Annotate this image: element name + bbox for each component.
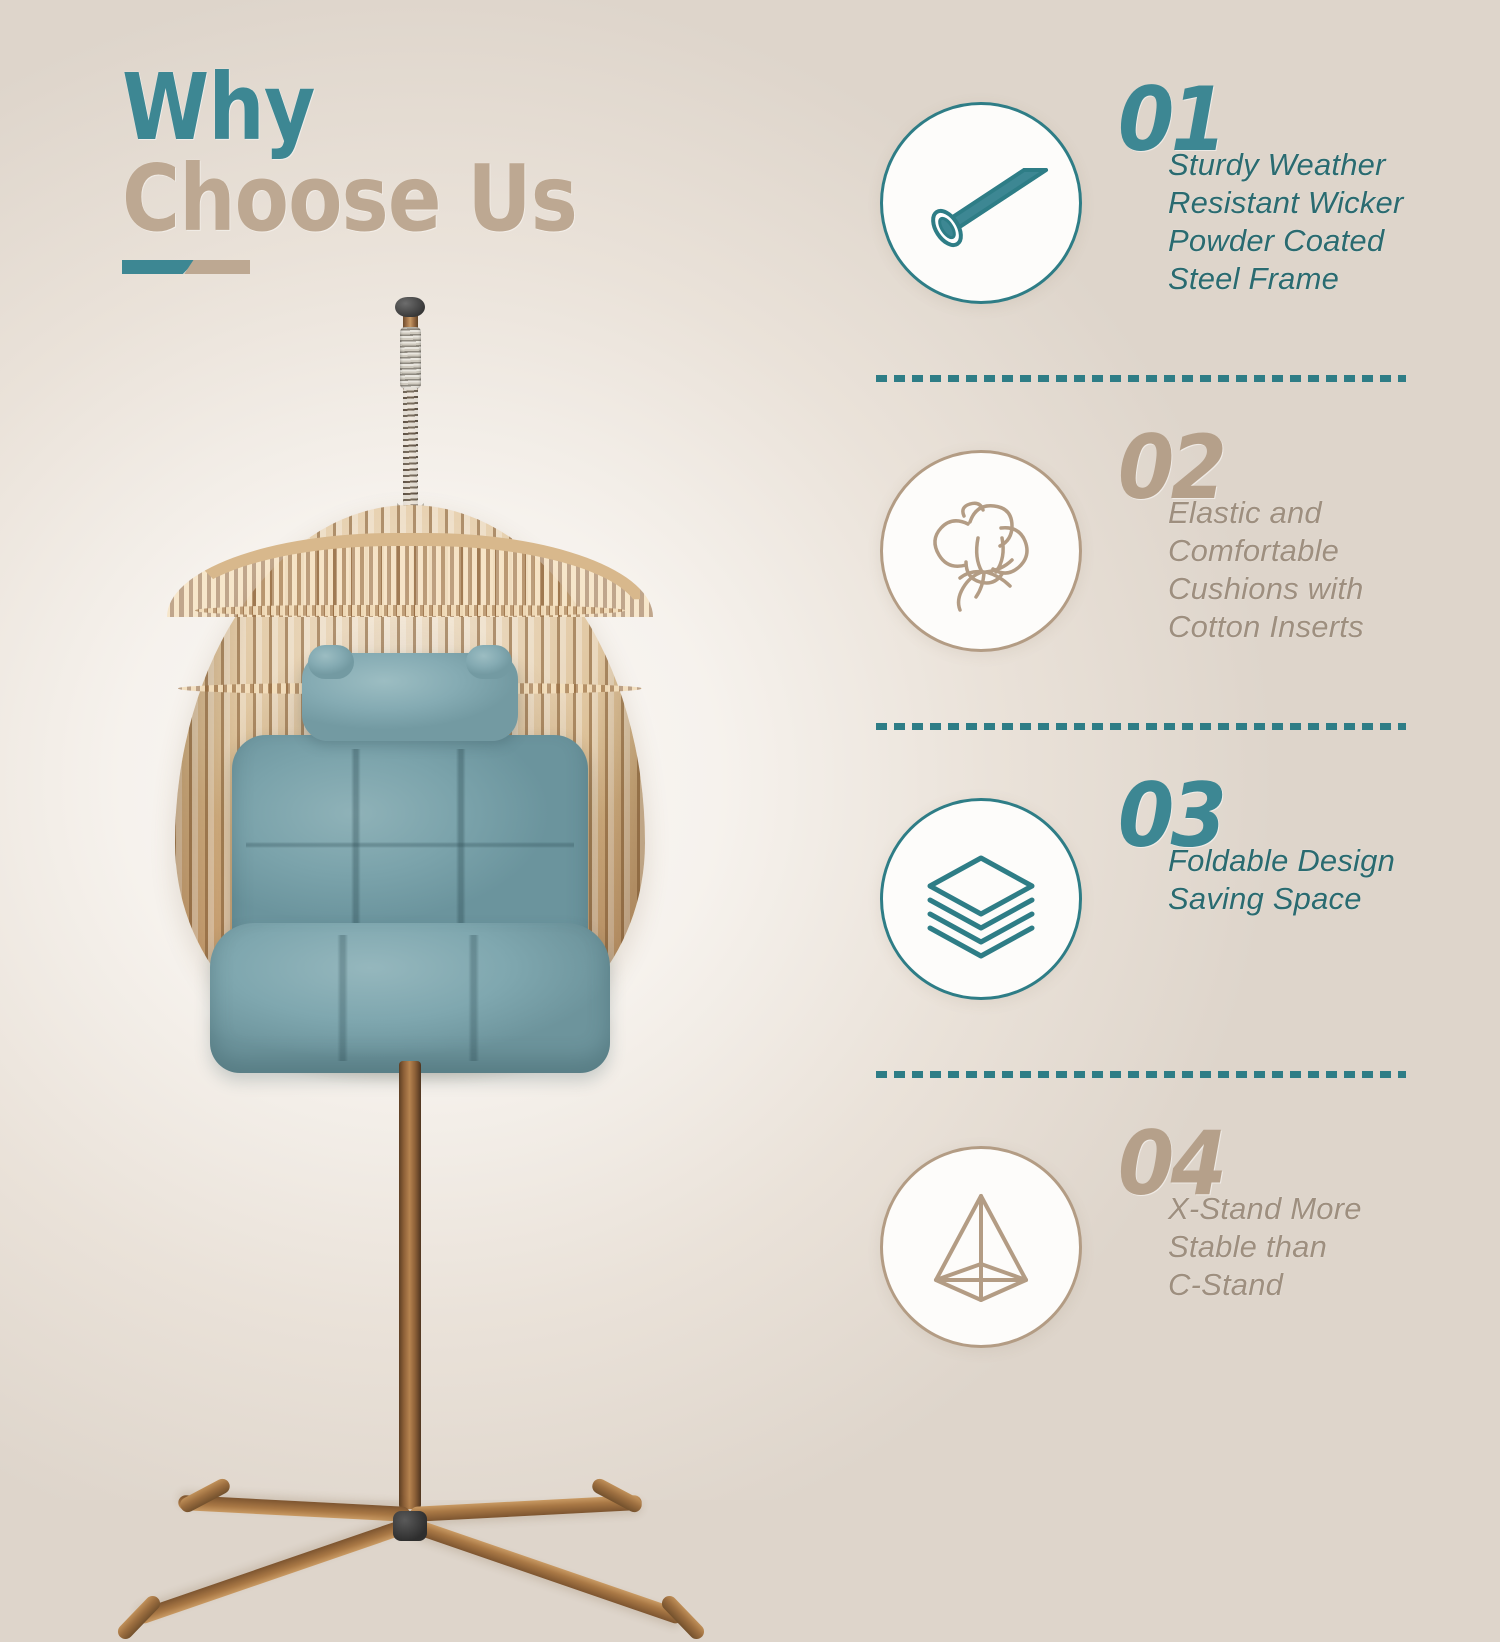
basket-band-upper bbox=[195, 605, 625, 616]
feature-item-01: 01 Sturdy Weather Resistant Wicker Powde… bbox=[862, 62, 1422, 410]
feature-text-line: Saving Space bbox=[1168, 880, 1420, 918]
feature-icon-badge-03 bbox=[880, 798, 1082, 1000]
feature-divider-1 bbox=[876, 375, 1406, 382]
feature-text-03: Foldable Design Saving Space bbox=[1168, 842, 1420, 918]
post-cap-icon bbox=[395, 297, 425, 317]
heading-line-choose-us: Choose Us bbox=[122, 157, 655, 242]
feature-divider-3 bbox=[876, 1071, 1406, 1078]
feature-icon-badge-02 bbox=[880, 450, 1082, 652]
feature-text-line: Cushions with bbox=[1168, 570, 1420, 608]
pyramid-stand-icon bbox=[906, 1172, 1056, 1322]
feature-text-line: Comfortable bbox=[1168, 532, 1420, 570]
stand-lower-column bbox=[399, 1061, 421, 1509]
feature-item-04: 04 X-Stand More Stable than C-Stand bbox=[862, 1106, 1422, 1454]
feature-text-line: Powder Coated bbox=[1168, 222, 1420, 260]
stand-leg-front-left bbox=[135, 1517, 412, 1625]
feature-text-01: Sturdy Weather Resistant Wicker Powder C… bbox=[1168, 146, 1420, 299]
feature-text-02: Elastic and Comfortable Cushions with Co… bbox=[1168, 494, 1420, 647]
feature-item-02: 02 Elastic and Comfortable Cushions with… bbox=[862, 410, 1422, 758]
feature-text-line: Steel Frame bbox=[1168, 260, 1420, 298]
cotton-flower-icon bbox=[906, 476, 1056, 626]
layers-stack-icon bbox=[906, 824, 1056, 974]
feature-item-03: 03 Foldable Design Saving Space bbox=[862, 758, 1422, 1106]
feature-list: 01 Sturdy Weather Resistant Wicker Powde… bbox=[862, 62, 1422, 1454]
feature-divider-2 bbox=[876, 723, 1406, 730]
heading-underline-bar bbox=[122, 260, 250, 274]
underline-tan-segment bbox=[184, 260, 250, 274]
feature-text-line: X-Stand More bbox=[1168, 1190, 1420, 1228]
feature-text-line: Sturdy Weather bbox=[1168, 146, 1420, 184]
feature-text-line: Elastic and bbox=[1168, 494, 1420, 532]
feature-text-line: Foldable Design bbox=[1168, 842, 1420, 880]
feature-text-line: Cotton Inserts bbox=[1168, 608, 1420, 646]
feature-text-line: Stable than bbox=[1168, 1228, 1420, 1266]
feature-icon-badge-01 bbox=[880, 102, 1082, 304]
suspension-spring bbox=[400, 327, 421, 389]
steel-tube-icon bbox=[906, 128, 1056, 278]
feature-text-line: C-Stand bbox=[1168, 1266, 1420, 1304]
underline-teal-segment bbox=[122, 260, 196, 274]
seat-cushion bbox=[210, 923, 610, 1073]
feature-icon-badge-04 bbox=[880, 1146, 1082, 1348]
feature-text-04: X-Stand More Stable than C-Stand bbox=[1168, 1190, 1420, 1304]
stand-center-hub bbox=[393, 1511, 427, 1541]
feature-text-line: Resistant Wicker bbox=[1168, 184, 1420, 222]
hanging-chain bbox=[403, 387, 418, 509]
headrest-pillow bbox=[302, 653, 518, 741]
page-title: Why Choose Us bbox=[122, 66, 742, 241]
infographic-page: Why Choose Us bbox=[0, 0, 1500, 1500]
product-photo-hanging-egg-chair bbox=[90, 275, 730, 1435]
heading-line-why: Why bbox=[122, 66, 655, 151]
stand-leg-front-right bbox=[408, 1517, 685, 1625]
